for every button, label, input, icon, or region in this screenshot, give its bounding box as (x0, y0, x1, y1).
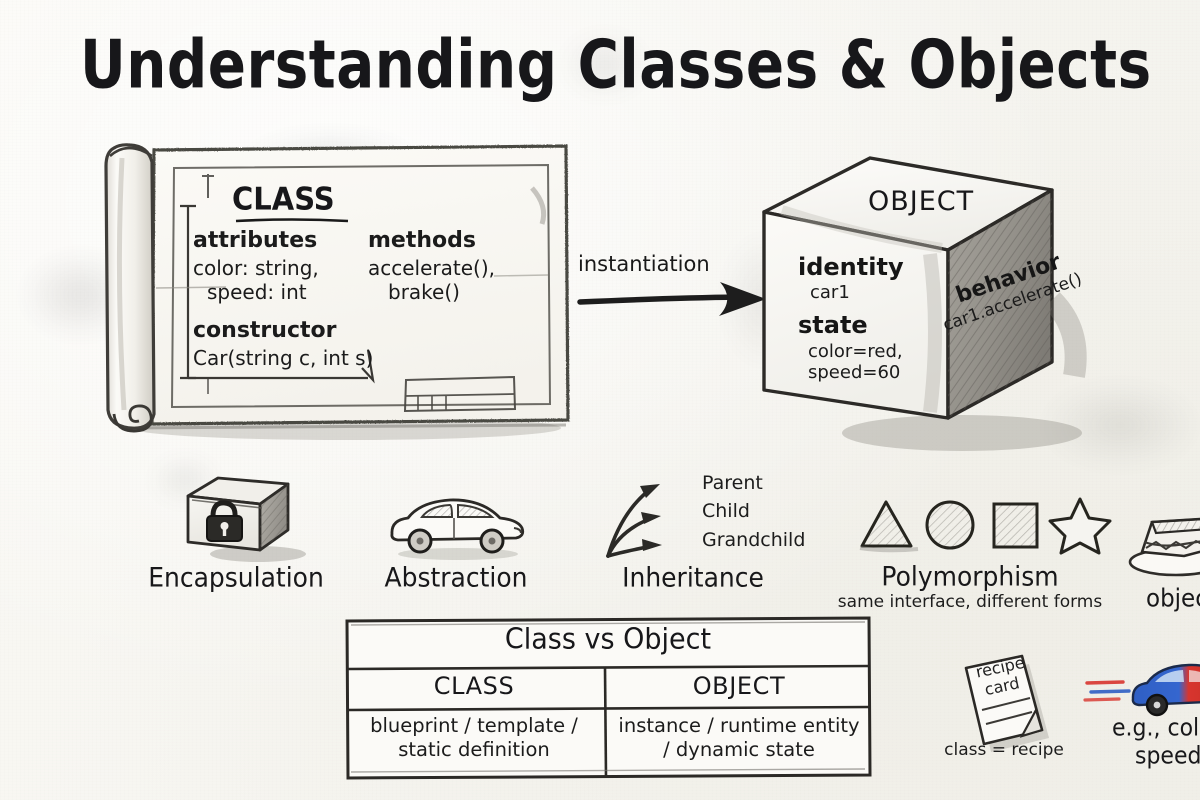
table-header-class: CLASS (434, 672, 515, 700)
table-header-object: OBJECT (693, 672, 786, 700)
state-label: state (798, 311, 904, 339)
cake-slice-top (1152, 518, 1200, 533)
class-methods-block: methods accelerate(), brake() (368, 228, 495, 304)
class-attributes-block: attributes color: string, speed: int (193, 228, 319, 304)
pillar-inheritance (600, 468, 710, 563)
instantiation-label: instantiation (578, 252, 776, 276)
shape-triangle-icon (862, 502, 911, 546)
page-title: Understanding Classes & Objects (80, 26, 1152, 104)
constructor-label: constructor (193, 318, 373, 343)
speed-line-1 (1087, 682, 1123, 683)
inheritance-node-grandchild: Grandchild (702, 529, 805, 551)
class-blueprint-panel (96, 128, 586, 448)
table-cell-class-wrap: blueprint / template / static definition (370, 714, 578, 761)
analogy-recipe-label-wrap: class = recipe (944, 740, 1064, 760)
pillar-encapsulation (176, 468, 316, 563)
pillar-encapsulation-label-wrap: Encapsulation (148, 563, 324, 592)
methods-line-1: accelerate(), (368, 256, 495, 280)
blueprint-faint-guide-2 (494, 275, 548, 276)
pillar-inheritance-label-wrap: Inheritance (622, 563, 764, 592)
inheritance-arrowhead-child (641, 512, 661, 524)
table-title-wrap: Class vs Object (505, 624, 711, 655)
table-cell-object-wrap: instance / runtime entity / dynamic stat… (618, 714, 859, 761)
inheritance-node-parent-wrap: Parent (702, 472, 763, 494)
class-heading: CLASS (232, 181, 352, 217)
table-cell-class-line-1: blueprint / template / (370, 714, 578, 737)
pillar-abstraction (382, 490, 532, 562)
table-title: Class vs Object (505, 623, 711, 656)
cube-front-text: identity car1 state color=red, speed=60 (798, 253, 904, 383)
attributes-line-1: color: string, (193, 256, 319, 280)
analogy-car-label-line-2: speed (1135, 743, 1200, 770)
inheritance-node-child: Child (702, 500, 750, 522)
pillar-label-abstraction: Abstraction (384, 562, 527, 593)
identity-value: car1 (810, 282, 904, 303)
object-top-label-wrap: OBJECT (868, 186, 974, 217)
pillar-label-encapsulation: Encapsulation (148, 562, 324, 593)
analogy-recipe-label: class = recipe (944, 740, 1064, 760)
table-header-object-wrap: OBJECT (693, 672, 786, 700)
state-value-line-1: color=red, (808, 341, 904, 362)
pillar-label-polymorphism: Polymorphism (881, 561, 1058, 592)
pillar-polymorphism (858, 496, 1118, 554)
table-header-class-wrap: CLASS (434, 672, 515, 700)
shape-circle-icon (927, 502, 973, 548)
pillar-polymorphism-label-wrap: Polymorphism (881, 562, 1058, 591)
object-top-label: OBJECT (868, 186, 974, 217)
table-column-divider (605, 668, 606, 777)
colored-car-hub-front (1154, 702, 1161, 709)
inheritance-node-grandchild-wrap: Grandchild (702, 529, 805, 551)
speed-line-2 (1091, 691, 1129, 692)
analogy-car-label-line-1-wrap: e.g., color= (1112, 716, 1200, 741)
shapes-ground-smudge (860, 548, 918, 550)
cube-smudge-trail (1052, 300, 1076, 376)
class-heading-wrap: CLASS (232, 182, 352, 225)
speed-line-3 (1085, 699, 1119, 700)
pillar-label-inheritance: Inheritance (622, 562, 764, 593)
attributes-label: attributes (193, 228, 319, 253)
analogy-cake-label: object (1146, 585, 1200, 613)
instantiation-arrow-shaft (580, 297, 740, 302)
table-cell-object-line-1: instance / runtime entity (618, 714, 859, 737)
colored-car-window-rear (1189, 670, 1200, 682)
class-constructor-block: constructor Car(string c, int s) (193, 318, 373, 370)
state-value-line-2: speed=60 (808, 362, 904, 383)
sketch-canvas: Understanding Classes & Objects (0, 0, 1200, 800)
analogy-cake-label-wrap: object (1146, 586, 1200, 612)
shape-square-icon (994, 504, 1037, 547)
table-cell-class-line-2: static definition (370, 738, 578, 761)
analogy-cake (1126, 498, 1200, 588)
car-icon-hub-front (417, 538, 424, 545)
constructor-line-1: Car(string c, int s) (193, 346, 373, 370)
inheritance-arrowhead-grandchild (642, 539, 662, 551)
methods-line-2: brake() (388, 280, 495, 304)
page-title-wrap: Understanding Classes & Objects (80, 30, 1200, 100)
polymorphism-caption: same interface, different forms (838, 592, 1102, 612)
shape-star-icon (1050, 499, 1110, 553)
analogy-car-label-line-1: e.g., color= (1112, 715, 1200, 742)
instantiation-group: instantiation (578, 252, 776, 320)
identity-label: identity (798, 253, 904, 281)
cube-shadow (842, 415, 1082, 451)
pillar-abstraction-label-wrap: Abstraction (384, 563, 527, 592)
inheritance-node-parent: Parent (702, 472, 763, 494)
scroll-roll (106, 145, 154, 428)
class-heading-underline (236, 220, 348, 222)
analogy-car-label-line-2-wrap: speed (1135, 744, 1200, 769)
attributes-line-2: speed: int (207, 280, 319, 304)
cube-front-shade (930, 254, 935, 412)
methods-label: methods (368, 228, 495, 253)
car-icon-hub-rear (489, 538, 496, 545)
inheritance-node-child-wrap: Child (702, 500, 750, 522)
table-cell-object-line-2: / dynamic state (618, 738, 859, 761)
polymorphism-caption-wrap: same interface, different forms (838, 592, 1102, 612)
